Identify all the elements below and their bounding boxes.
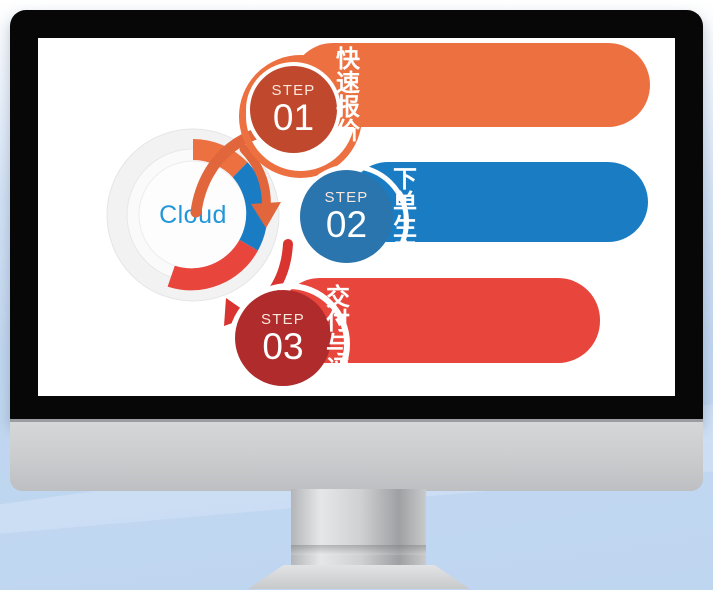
step-3-badge[interactable]: STEP 03 xyxy=(235,290,331,386)
step-2-word: STEP xyxy=(325,190,369,205)
screenshot-stage: Cloud STEP 01 快速报价 急速 xyxy=(0,0,713,590)
step-2-title: 下单生产 xyxy=(393,168,426,264)
step-1-badge[interactable]: STEP 01 xyxy=(246,62,341,157)
step-1-title: 快速报价 xyxy=(336,48,369,144)
arrow-2-head xyxy=(251,202,281,228)
step-1-number: 01 xyxy=(273,99,314,136)
monitor-chin xyxy=(10,419,703,491)
step-1-word: STEP xyxy=(272,83,316,98)
step-3-number: 03 xyxy=(262,328,303,365)
step-2-number: 02 xyxy=(326,206,367,243)
monitor-stand-fold xyxy=(291,545,426,555)
monitor-stand-neck xyxy=(291,489,426,571)
step-3-title: 交付与评价 xyxy=(326,286,373,396)
slide-canvas: Cloud STEP 01 快速报价 急速 xyxy=(38,38,675,396)
step-2-badge[interactable]: STEP 02 xyxy=(300,170,393,263)
monitor-stand-base xyxy=(248,565,470,589)
step-3-word: STEP xyxy=(261,312,305,327)
step-3-text-block: 交付与评价 方便的订单和生产过程确认 提前确认、快速上级生产 xyxy=(326,286,373,396)
monitor-chin-edge xyxy=(10,419,703,422)
